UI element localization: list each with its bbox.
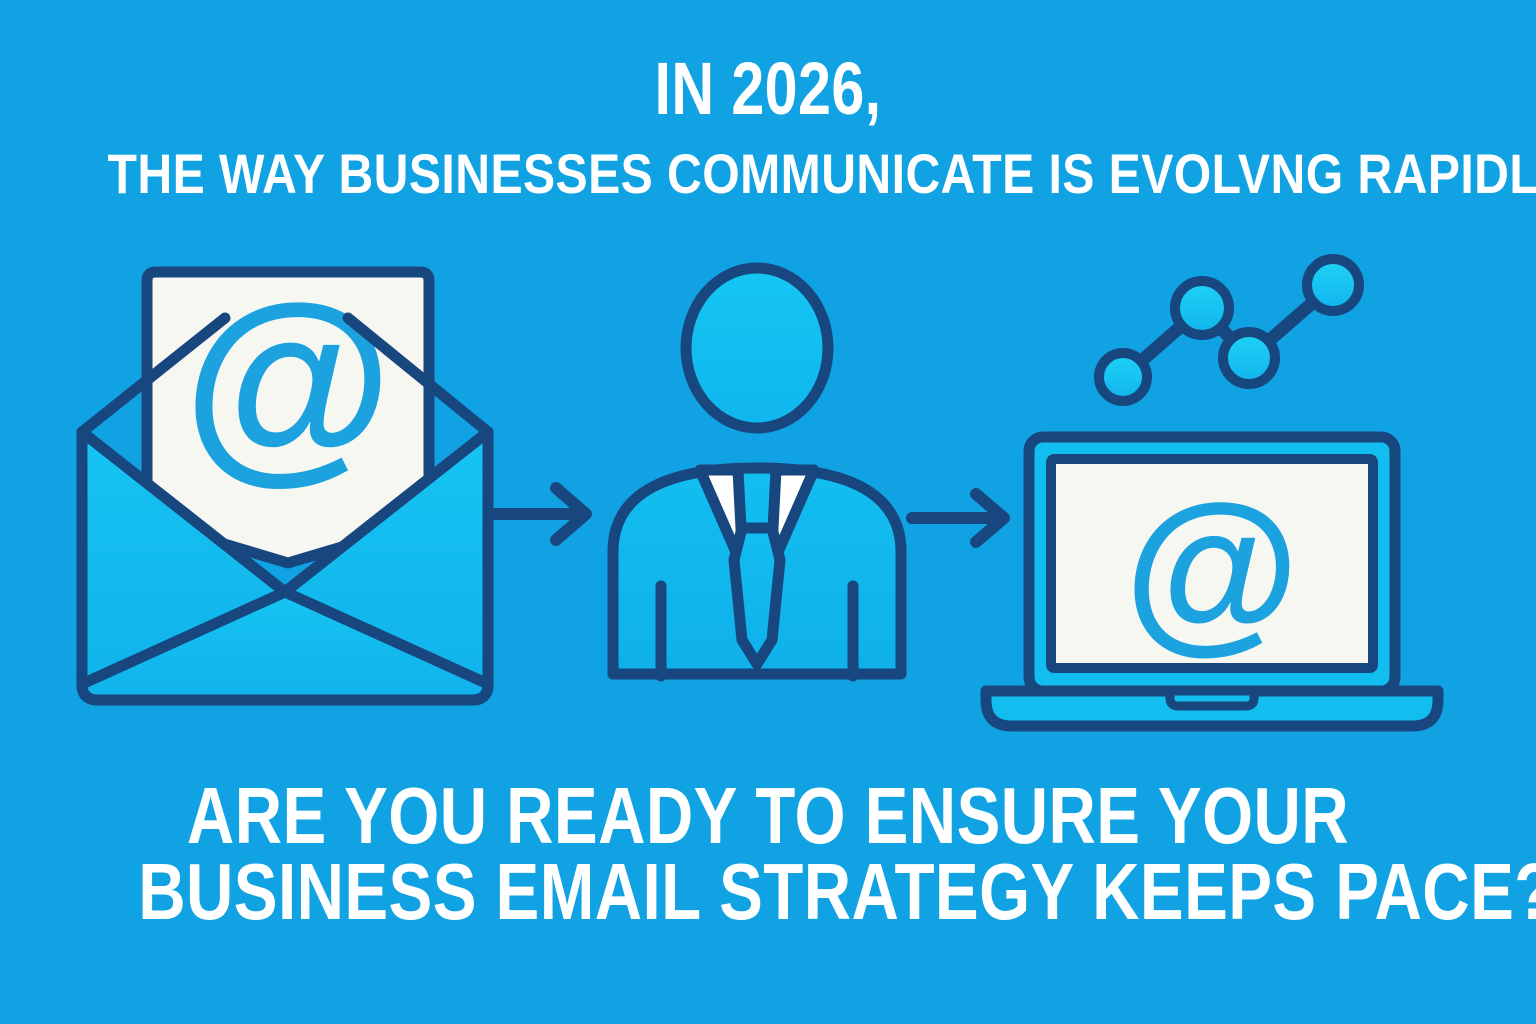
growth-line-chart-icon xyxy=(1099,259,1359,401)
person-head xyxy=(686,268,828,428)
person-necktie xyxy=(734,528,780,664)
flow-arrow-right-icon-1 xyxy=(492,488,586,540)
at-symbol-screen: @ xyxy=(1124,468,1300,669)
flow-arrow-right-icon-2 xyxy=(912,494,1004,542)
open-envelope-with-letter-icon: @ xyxy=(82,260,488,700)
chart-node-4 xyxy=(1307,259,1359,311)
headline-line-2: THE WAY BUSINESSES COMMUNICATE IS EVOLVN… xyxy=(108,146,1429,202)
chart-node-2 xyxy=(1175,281,1229,335)
at-symbol-letter: @ xyxy=(183,260,393,501)
headline-line-1: IN 2026, xyxy=(154,52,1383,126)
infographic-poster: @ xyxy=(0,0,1536,1024)
chart-node-1 xyxy=(1099,353,1147,401)
chart-node-3 xyxy=(1223,332,1275,384)
footer-line-2: BUSINESS EMAIL STRATEGY KEEPS PACE? xyxy=(138,852,1398,932)
laptop-trackpad-notch xyxy=(1170,691,1254,706)
laptop-with-email-icon: @ xyxy=(986,437,1438,726)
businessperson-icon xyxy=(613,268,901,676)
footer-line-1: ARE YOU READY TO ENSURE YOUR xyxy=(138,776,1398,856)
